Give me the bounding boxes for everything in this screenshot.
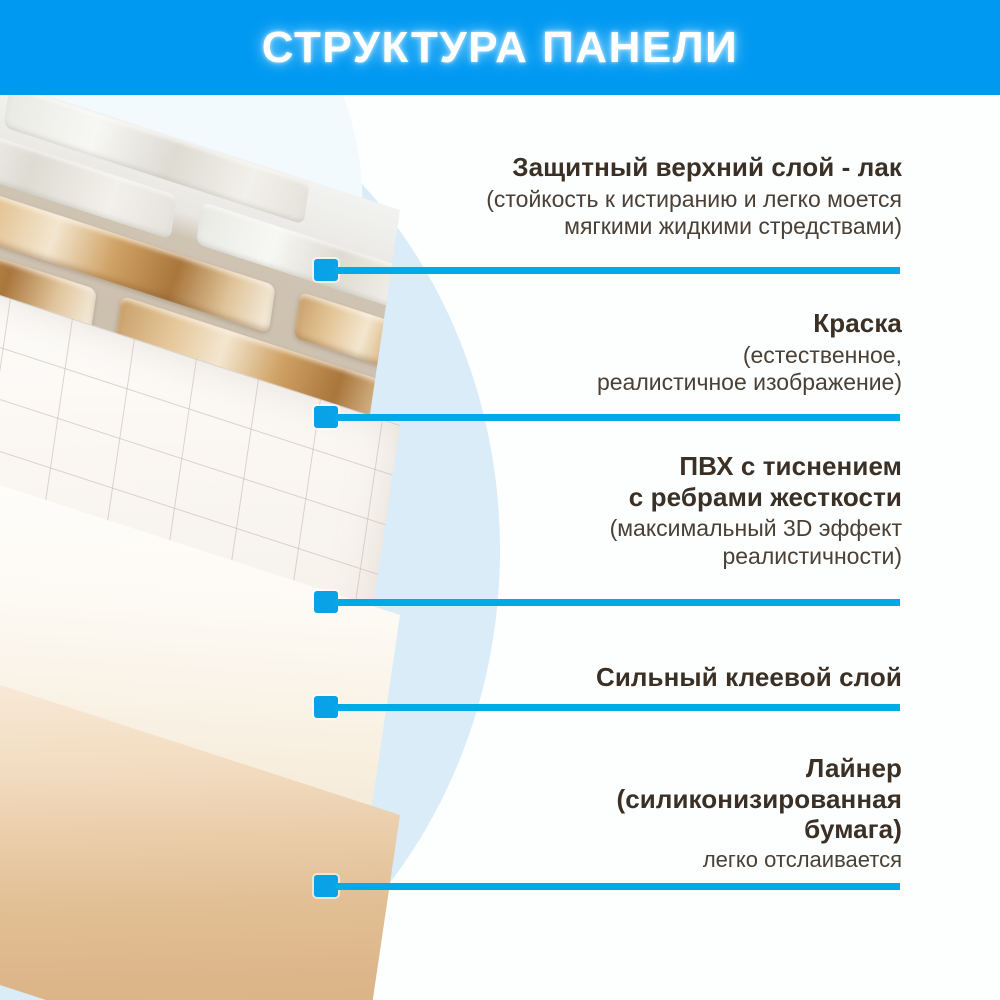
callout-pvc-title: ПВХ с тиснением с ребрами жесткости	[610, 451, 902, 512]
panel-layer-illustration	[0, 95, 520, 1000]
callout-adhesive: Сильный клеевой слой	[596, 662, 902, 693]
callout-line-varnish	[334, 267, 900, 274]
connector-liner	[314, 875, 904, 899]
connector-paint	[314, 406, 904, 430]
callout-liner-note: легко отслаивается	[616, 847, 902, 873]
callout-varnish: Защитный верхний слой - лак (стойкость к…	[486, 152, 902, 241]
connector-adhesive	[314, 696, 904, 720]
callout-pvc-subtitle: (максимальный 3D эффект реалистичности)	[610, 515, 902, 570]
page-title: СТРУКТУРА ПАНЕЛИ	[262, 23, 738, 73]
connector-pvc	[314, 591, 904, 615]
callout-line-paint	[334, 414, 900, 421]
connector-varnish	[314, 259, 904, 283]
callout-liner: Лайнер (силиконизированная бумага) легко…	[616, 753, 902, 873]
callout-varnish-title: Защитный верхний слой - лак	[486, 152, 902, 183]
callout-paint: Краска (естественное, реалистичное изобр…	[597, 308, 902, 397]
callout-liner-title: Лайнер (силиконизированная бумага)	[616, 753, 902, 845]
callout-line-adhesive	[334, 704, 900, 711]
header-banner: СТРУКТУРА ПАНЕЛИ	[0, 0, 1000, 95]
callout-adhesive-title: Сильный клеевой слой	[596, 662, 902, 693]
callout-varnish-subtitle: (стойкость к истиранию и легко моется мя…	[486, 186, 902, 241]
callout-paint-subtitle: (естественное, реалистичное изображение)	[597, 342, 902, 397]
infographic-canvas: СТРУКТУРА ПАНЕЛИ	[0, 0, 1000, 1000]
callout-pvc: ПВХ с тиснением с ребрами жесткости (мак…	[610, 451, 902, 571]
callout-line-liner	[334, 883, 900, 890]
callout-line-pvc	[334, 599, 900, 606]
callout-paint-title: Краска	[597, 308, 902, 339]
